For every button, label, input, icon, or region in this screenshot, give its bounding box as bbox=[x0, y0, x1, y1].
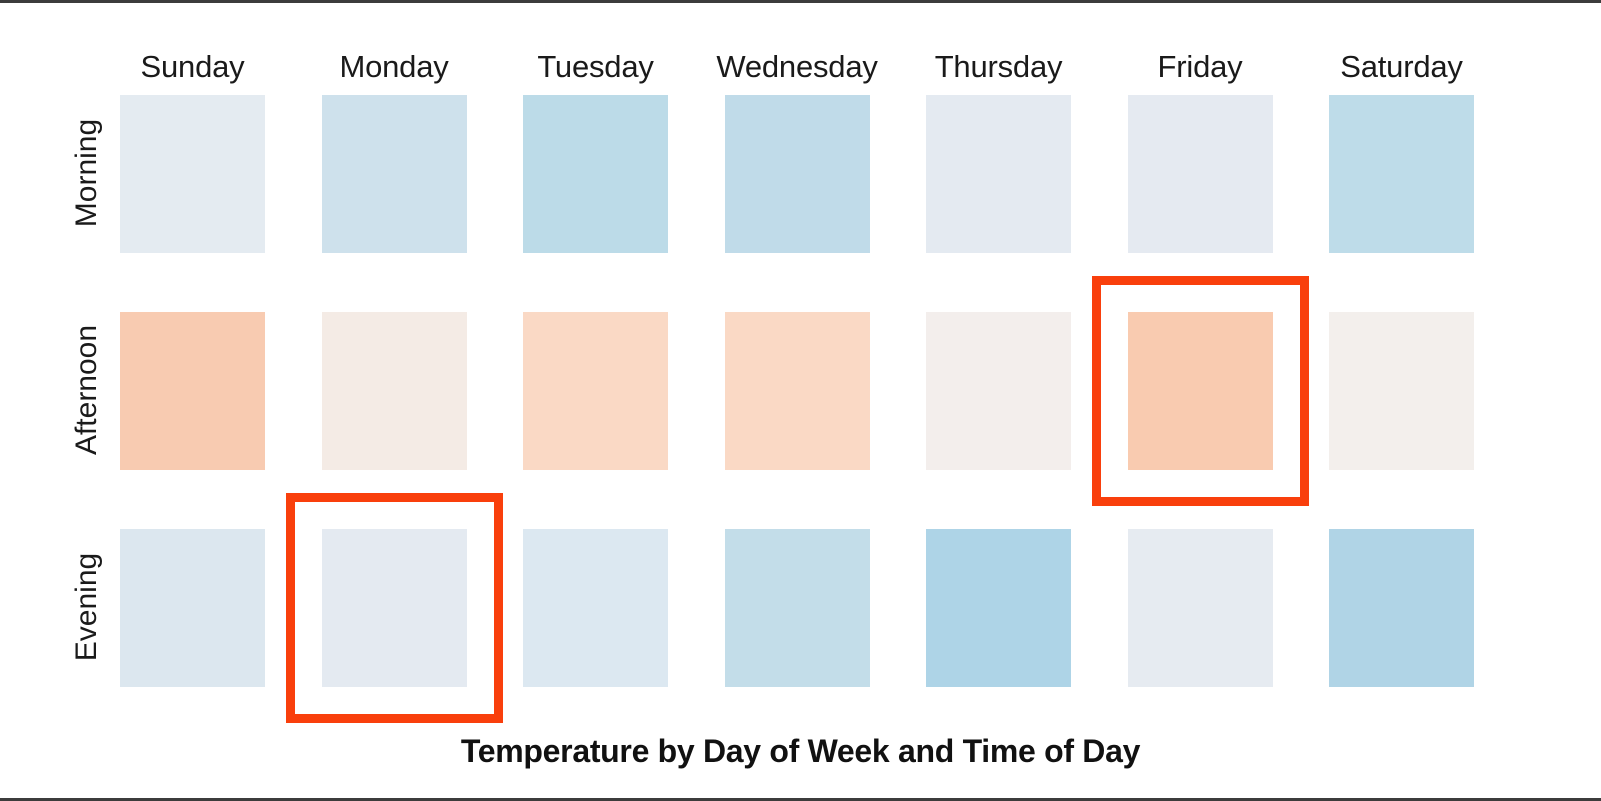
heatmap-cell-evening-sunday[interactable] bbox=[120, 529, 265, 687]
heatmap-cell-morning-sunday[interactable] bbox=[120, 95, 265, 253]
heatmap-cell-evening-saturday[interactable] bbox=[1329, 529, 1474, 687]
heatmap-figure: SundayMondayTuesdayWednesdayThursdayFrid… bbox=[0, 0, 1601, 801]
heatmap-cell-afternoon-tuesday[interactable] bbox=[523, 312, 668, 470]
heatmap-cell-afternoon-thursday[interactable] bbox=[926, 312, 1071, 470]
heatmap-cell-evening-monday[interactable] bbox=[322, 529, 467, 687]
row-label-evening: Evening bbox=[72, 477, 102, 737]
heatmap-cell-evening-thursday[interactable] bbox=[926, 529, 1071, 687]
heatmap-cell-morning-monday[interactable] bbox=[322, 95, 467, 253]
heatmap-cell-morning-tuesday[interactable] bbox=[523, 95, 668, 253]
heatmap-cell-evening-tuesday[interactable] bbox=[523, 529, 668, 687]
heatmap-cell-morning-saturday[interactable] bbox=[1329, 95, 1474, 253]
heatmap-cell-afternoon-wednesday[interactable] bbox=[725, 312, 870, 470]
heatmap-cell-morning-thursday[interactable] bbox=[926, 95, 1071, 253]
heatmap-cell-afternoon-friday[interactable] bbox=[1128, 312, 1273, 470]
heatmap-cell-afternoon-saturday[interactable] bbox=[1329, 312, 1474, 470]
heatmap-plot-area: SundayMondayTuesdayWednesdayThursdayFrid… bbox=[0, 0, 1601, 801]
heatmap-cell-morning-friday[interactable] bbox=[1128, 95, 1273, 253]
heatmap-cell-afternoon-monday[interactable] bbox=[322, 312, 467, 470]
heatmap-cell-evening-friday[interactable] bbox=[1128, 529, 1273, 687]
heatmap-cell-afternoon-sunday[interactable] bbox=[120, 312, 265, 470]
heatmap-cell-evening-wednesday[interactable] bbox=[725, 529, 870, 687]
column-header-saturday: Saturday bbox=[1252, 51, 1552, 82]
heatmap-cell-morning-wednesday[interactable] bbox=[725, 95, 870, 253]
chart-title: Temperature by Day of Week and Time of D… bbox=[0, 733, 1601, 770]
